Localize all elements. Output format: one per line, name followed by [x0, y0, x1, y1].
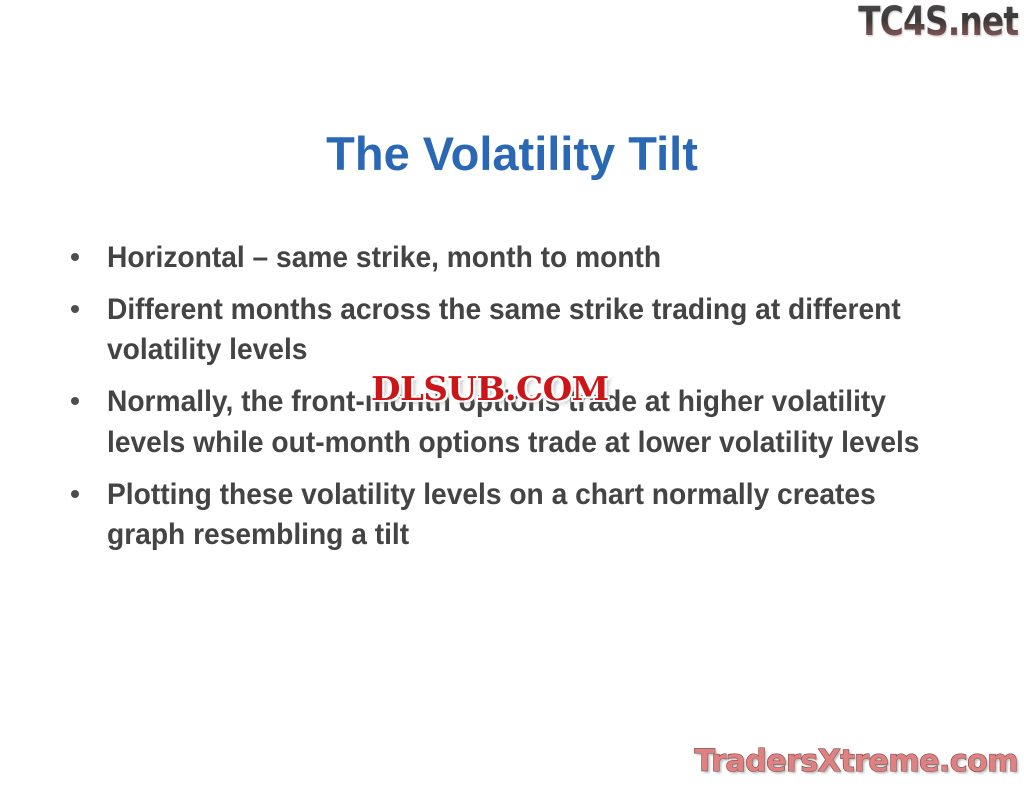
- list-item-label: Different months across the same strike …: [107, 290, 943, 371]
- list-item: Horizontal – same strike, month to month: [62, 238, 982, 279]
- list-item: Different months across the same strike …: [62, 290, 982, 371]
- page-title: The Volatility Tilt: [0, 128, 1024, 181]
- bullet-dot-icon: [71, 305, 79, 313]
- bullet-dot-icon: [71, 253, 79, 261]
- list-item: Plotting these volatility levels on a ch…: [62, 475, 982, 556]
- list-item-label: Plotting these volatility levels on a ch…: [107, 475, 943, 556]
- tradersxtreme-logo: TradersXtreme.com: [695, 747, 1018, 777]
- dlsub-watermark: DLSUB.COM: [371, 372, 609, 405]
- presentation-slide: TC4S.net The Volatility Tilt Horizontal …: [0, 0, 1024, 791]
- list-item-label: Horizontal – same strike, month to month: [107, 238, 943, 279]
- bullet-dot-icon: [71, 490, 79, 498]
- tc4s-logo: TC4S.net: [858, 2, 1018, 42]
- bullet-dot-icon: [71, 397, 79, 405]
